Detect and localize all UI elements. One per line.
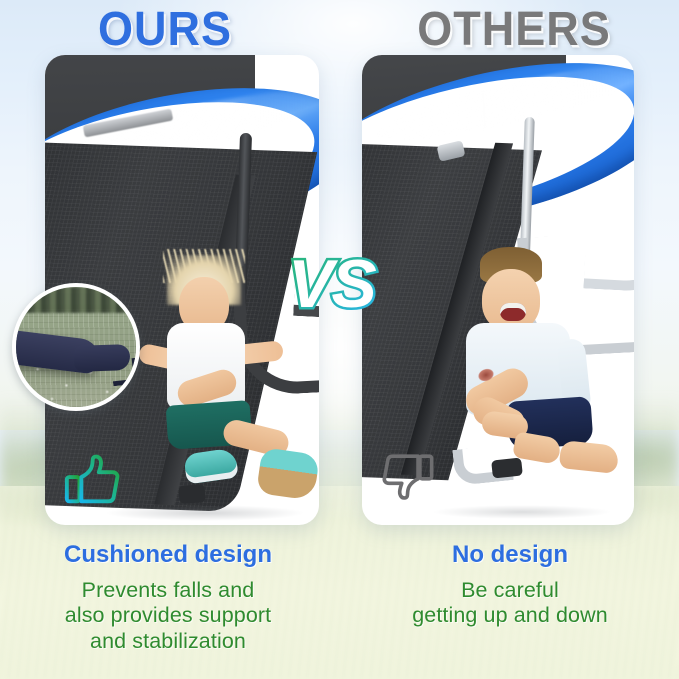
caption-ours: Cushioned design Prevents falls and also… xyxy=(18,541,318,654)
inset-treeline xyxy=(16,287,136,313)
child-shoe-2 xyxy=(256,447,319,501)
caption-line: also provides support xyxy=(18,603,318,628)
header-ours: OURS xyxy=(0,4,330,53)
caption-line: and stabilization xyxy=(18,629,318,654)
vs-label: VS xyxy=(288,246,376,322)
caption-title-ours: Cushioned design xyxy=(18,541,318,569)
vs-badge-svg: VS xyxy=(282,245,390,323)
caption-others: No design Be careful getting up and down xyxy=(360,541,660,629)
thumbs-down-icon xyxy=(380,448,438,506)
thumbs-up-icon xyxy=(62,448,124,510)
child-crying-hurt xyxy=(456,247,634,507)
child-shoe-1 xyxy=(183,448,239,485)
caption-line: Prevents falls and xyxy=(18,578,318,603)
ground-shadow xyxy=(105,505,305,521)
child-open-mouth xyxy=(500,303,526,321)
vs-badge: VS xyxy=(282,245,390,323)
caption-body-ours: Prevents falls and also provides support… xyxy=(18,578,318,653)
header-others: OTHERS xyxy=(349,4,679,53)
caption-title-others: No design xyxy=(360,541,660,569)
caption-line: getting up and down xyxy=(360,603,660,628)
inset-leg-cushion-closeup[interactable] xyxy=(12,283,140,411)
child-foot-b xyxy=(559,440,620,474)
caption-body-others: Be careful getting up and down xyxy=(360,578,660,628)
ground-shadow xyxy=(432,505,612,519)
caption-line: Be careful xyxy=(360,578,660,603)
child-head xyxy=(482,269,540,331)
